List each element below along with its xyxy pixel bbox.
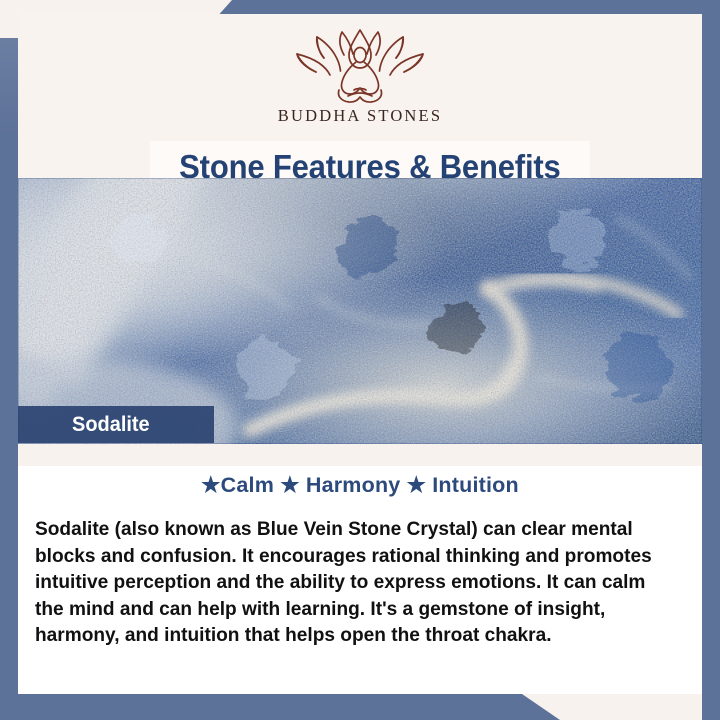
- left-border-shape: [0, 38, 18, 720]
- bottom-banner-shape: [0, 694, 560, 720]
- brand-logo: BUDDHA STONES: [18, 14, 702, 126]
- stone-photo: [18, 178, 702, 444]
- infographic-page: BUDDHA STONES Stone Features & Benefits: [0, 0, 720, 720]
- lotus-meditation-icon: [285, 26, 435, 104]
- stone-description: Sodalite (also known as Blue Vein Stone …: [35, 516, 671, 649]
- header-section: BUDDHA STONES Stone Features & Benefits: [18, 14, 702, 178]
- right-border-shape: [702, 0, 720, 720]
- stone-name-badge: Sodalite: [18, 406, 214, 443]
- stone-name-label: Sodalite: [72, 413, 150, 437]
- brand-name: BUDDHA STONES: [278, 106, 442, 126]
- content-panel: ★Calm ★ Harmony ★ Intuition Sodalite (al…: [18, 444, 702, 694]
- keyword-list: ★Calm ★ Harmony ★ Intuition: [18, 473, 702, 498]
- divider-strip: [18, 444, 702, 466]
